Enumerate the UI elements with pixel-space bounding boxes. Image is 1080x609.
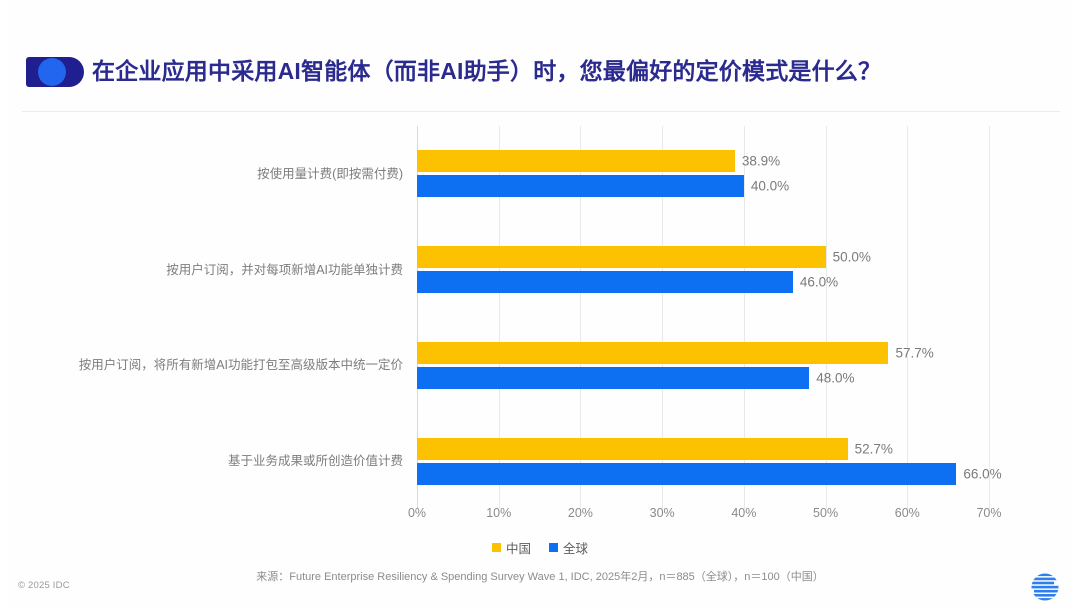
x-tick-label: 50% bbox=[813, 506, 838, 520]
slide-left-edge bbox=[0, 0, 8, 608]
bar-value-label: 66.0% bbox=[963, 466, 1001, 481]
chart-category-group: 按用户订阅，将所有新增AI功能打包至高级版本中统一定价57.7%48.0% bbox=[417, 318, 989, 414]
slide: 在企业应用中采用AI智能体（而非AI助手）时，您最偏好的定价模式是什么？ 按使用… bbox=[0, 0, 1080, 608]
legend-label: 中国 bbox=[506, 538, 531, 557]
x-tick-label: 70% bbox=[976, 506, 1001, 520]
x-tick-label: 60% bbox=[895, 506, 920, 520]
chart-category-group: 按使用量计费(即按需付费)38.9%40.0% bbox=[417, 126, 989, 222]
idc-globe-logo-icon bbox=[1028, 570, 1062, 604]
idc-dot-icon bbox=[38, 58, 66, 86]
bar-全球: 46.0% bbox=[417, 271, 793, 293]
chart-plot-area: 按使用量计费(即按需付费)38.9%40.0%按用户订阅，并对每项新增AI功能单… bbox=[417, 126, 989, 509]
category-label: 按用户订阅，将所有新增AI功能打包至高级版本中统一定价 bbox=[3, 357, 417, 373]
legend-label: 全球 bbox=[563, 538, 588, 557]
x-tick-label: 20% bbox=[568, 506, 593, 520]
bar-value-label: 48.0% bbox=[816, 370, 854, 385]
bar-chart: 按使用量计费(即按需付费)38.9%40.0%按用户订阅，并对每项新增AI功能单… bbox=[0, 118, 1080, 548]
x-tick-label: 10% bbox=[486, 506, 511, 520]
bar-value-label: 38.9% bbox=[742, 154, 780, 169]
bar-全球: 40.0% bbox=[417, 175, 744, 197]
chart-category-group: 基于业务成果或所创造价值计费52.7%66.0% bbox=[417, 413, 989, 509]
source-note: 来源：Future Enterprise Resiliency & Spendi… bbox=[0, 568, 1080, 584]
slide-right-edge bbox=[1072, 0, 1080, 608]
bar-value-label: 52.7% bbox=[855, 441, 893, 456]
category-label: 基于业务成果或所创造价值计费 bbox=[3, 453, 417, 469]
category-label: 按使用量计费(即按需付费) bbox=[3, 166, 417, 182]
copyright-note: © 2025 IDC bbox=[18, 580, 70, 591]
bar-中国: 38.9% bbox=[417, 150, 735, 172]
page-title: 在企业应用中采用AI智能体（而非AI助手）时，您最偏好的定价模式是什么？ bbox=[92, 52, 1052, 90]
bar-value-label: 40.0% bbox=[751, 179, 789, 194]
legend-swatch-icon bbox=[549, 543, 558, 552]
x-tick-label: 30% bbox=[650, 506, 675, 520]
bar-全球: 66.0% bbox=[417, 463, 956, 485]
category-label: 按用户订阅，并对每项新增AI功能单独计费 bbox=[3, 262, 417, 278]
legend-item-全球[interactable]: 全球 bbox=[549, 538, 588, 557]
bar-value-label: 50.0% bbox=[833, 250, 871, 265]
header-divider bbox=[22, 111, 1060, 112]
legend-item-中国[interactable]: 中国 bbox=[492, 538, 531, 557]
slide-header: 在企业应用中采用AI智能体（而非AI助手）时，您最偏好的定价模式是什么？ bbox=[0, 0, 1080, 112]
chart-category-group: 按用户订阅，并对每项新增AI功能单独计费50.0%46.0% bbox=[417, 222, 989, 318]
bar-value-label: 46.0% bbox=[800, 275, 838, 290]
x-tick-label: 40% bbox=[731, 506, 756, 520]
bar-中国: 52.7% bbox=[417, 438, 848, 460]
bar-中国: 50.0% bbox=[417, 246, 826, 268]
gridline-70 bbox=[989, 126, 990, 509]
chart-legend: 中国全球 bbox=[0, 538, 1080, 557]
bar-value-label: 57.7% bbox=[895, 345, 933, 360]
bar-中国: 57.7% bbox=[417, 342, 888, 364]
chart-x-axis: 0%10%20%30%40%50%60%70% bbox=[417, 506, 989, 528]
x-tick-label: 0% bbox=[408, 506, 426, 520]
bar-全球: 48.0% bbox=[417, 367, 809, 389]
legend-swatch-icon bbox=[492, 543, 501, 552]
